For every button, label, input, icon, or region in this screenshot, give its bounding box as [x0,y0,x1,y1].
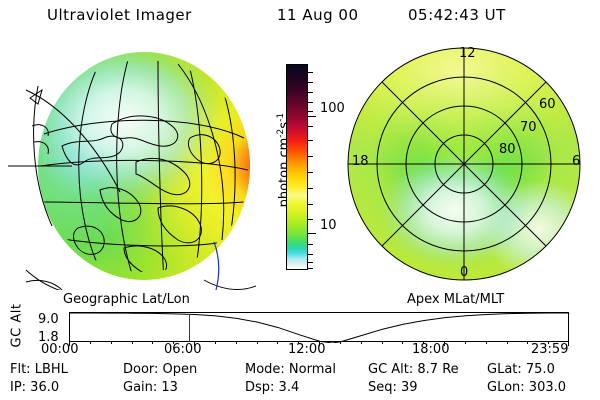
colorbar-minor-tick [308,140,313,141]
polar-overlay-grid [336,42,592,292]
mlt-label-6: 6 [572,155,580,168]
mlat-ring-60: 60 [539,98,556,111]
time-label-0000: 00:00 [41,342,78,357]
mlat-ring-70: 70 [520,121,537,134]
colorbar-minor-tick [308,72,313,73]
colorbar-minor-tick [308,172,313,173]
colorbar-major-tick [308,116,316,117]
colorbar-minor-tick [308,204,313,205]
status-dsp: Dsp: 3.4 [245,380,299,395]
colorbar-minor-tick [308,82,313,83]
status-footer: Flt: LBHL Door: Open Mode: Normal GC Alt… [0,362,600,400]
instrument-title: Ultraviolet Imager [47,6,192,24]
status-mode: Mode: Normal [245,362,336,377]
gc-alt-axis-label-bottom: Alt [10,304,25,323]
gc-alt-curve [70,313,570,343]
colorbar-minor-tick [308,92,313,93]
time-label-1200: 12:00 [288,342,325,357]
status-flt: Flt: LBHL [10,362,68,377]
colorbar-tick-marks [308,64,320,270]
apex-polar-panel[interactable]: 12 18 6 0 60 70 80 [336,42,592,292]
geographic-globe-panel[interactable] [8,42,256,290]
colorbar-panel[interactable]: photon cm-2s-1 100 10 [258,56,342,290]
gc-altitude-panel[interactable]: GC Alt 9.0 1.8 [0,306,600,344]
status-ip: IP: 36.0 [10,380,59,395]
left-panel-caption: Geographic Lat/Lon [63,292,190,307]
colorbar-minor-tick [308,126,313,127]
right-panel-caption: Apex MLat/MLT [407,292,504,307]
time-label-2359: 23:59 [531,342,568,357]
colorbar-label-10: 10 [320,219,337,232]
mlt-label-12: 12 [459,47,476,60]
status-gc-alt: GC Alt: 8.7 Re [368,362,459,377]
gc-alt-plot-box[interactable] [69,312,569,342]
status-seq: Seq: 39 [368,380,418,395]
colorbar-minor-tick [308,156,313,157]
colorbar-unit-exp1: -2 [276,129,286,138]
colorbar-unit-exp2: -1 [276,113,286,122]
colorbar-minor-tick [308,262,313,263]
colorbar-minor-tick [308,254,313,255]
status-gain: Gain: 13 [123,380,178,395]
colorbar-minor-tick [308,188,313,189]
colorbar-minor-tick [308,219,313,220]
colorbar-minor-tick [308,102,313,103]
observation-time: 05:42:43 UT [408,6,506,24]
time-axis-labels: 00:00 06:00 12:00 18:00 23:59 [0,342,600,360]
status-glon: GLon: 303.0 [487,380,566,395]
colorbar-minor-tick [308,268,313,269]
time-label-0600: 06:00 [164,342,201,357]
colorbar-gradient [286,64,308,270]
colorbar-minor-tick [308,111,313,112]
time-label-1800: 18:00 [412,342,449,357]
mlt-label-0: 0 [460,266,468,279]
globe-overlay-graticule [8,42,256,290]
current-time-marker [189,314,190,342]
colorbar-minor-tick [308,244,313,245]
colorbar-major-tick [308,233,316,234]
header-bar: Ultraviolet Imager 11 Aug 00 05:42:43 UT [0,6,600,30]
mlt-label-18: 18 [352,155,369,168]
status-glat: GLat: 75.0 [487,362,555,377]
gc-alt-max-value: 9.0 [38,313,59,326]
observation-date: 11 Aug 00 [277,6,359,24]
status-door: Door: Open [123,362,197,377]
mlat-ring-80: 80 [499,143,516,156]
